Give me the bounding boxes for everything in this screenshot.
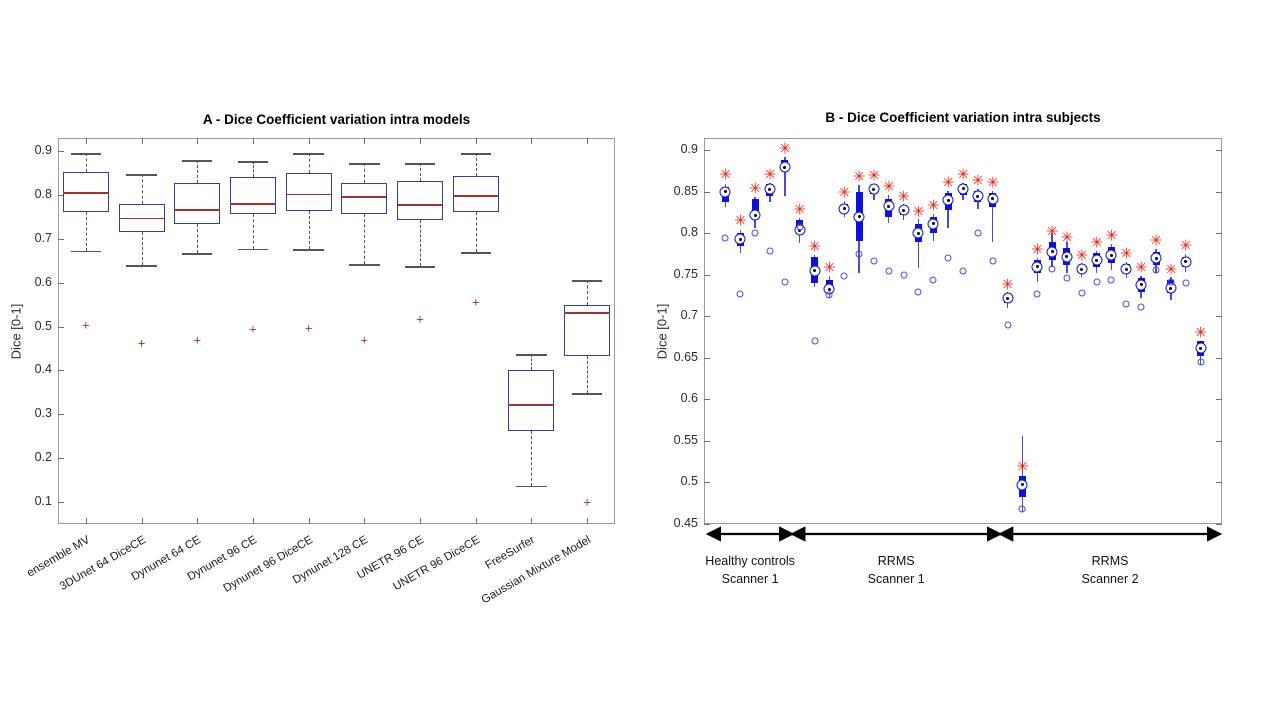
x-axis-tick [309,518,310,524]
y-axis-tick-label: 0.7 [10,231,52,245]
group-label-line1: RRMS [786,552,1006,570]
subject-min-marker [1034,291,1041,298]
subject-max-marker: ✳ [764,167,777,182]
subject-min-marker [960,267,967,274]
subject-min-marker [1049,266,1056,273]
y-axis-tick-label: 0.3 [10,406,52,420]
x-axis-tick [476,518,477,524]
subject-max-marker: ✳ [1150,234,1163,249]
subject-max-marker: ✳ [1031,242,1044,257]
subject-min-marker [737,291,744,298]
subject-median-marker [943,195,954,206]
subject-median-marker [1136,279,1147,290]
subject-min-marker [1182,280,1189,287]
subject-median-marker [1061,251,1072,262]
box-outlier-marker: + [472,295,480,308]
y-axis-tick-right [1216,275,1222,276]
subject-median-marker [720,186,731,197]
y-axis-tick [58,327,64,328]
x-axis-category-label: FreeSurfer [324,534,538,664]
x-axis-tick [364,138,365,144]
x-axis-tick [531,518,532,524]
box-median-line [63,192,109,194]
subject-min-marker [1063,275,1070,282]
x-axis-tick [587,518,588,524]
subject-median-marker [958,183,969,194]
subject-min-marker [1108,276,1115,283]
subject-median-marker [1195,343,1206,354]
box-whisker-upper [364,163,365,182]
y-axis-tick-label: 0.6 [652,391,698,405]
y-axis-tick-label: 0.75 [652,267,698,281]
box-whisker-cap-lower [71,251,101,253]
subject-min-marker [1123,301,1130,308]
subject-max-marker: ✳ [793,202,806,217]
box-whisker-upper [309,153,310,173]
box-outlier-marker: + [583,496,591,509]
subject-max-marker: ✳ [1179,239,1192,254]
x-axis-tick [86,518,87,524]
subject-median-marker [1106,250,1117,261]
box-median-line [564,312,610,314]
y-axis-tick-label: 0.8 [10,187,52,201]
subject-median-marker [898,205,909,216]
subject-median-marker [809,265,820,276]
subject-max-marker: ✳ [882,180,895,195]
subject-min-marker [885,267,892,274]
subject-max-marker: ✳ [779,142,792,157]
group-label-line1: RRMS [1000,552,1220,570]
box-whisker-upper [142,174,143,203]
x-axis-tick [142,518,143,524]
y-axis-tick-label: 0.8 [652,225,698,239]
box-median-line [508,404,554,406]
subject-max-marker: ✳ [1105,229,1118,244]
box-whisker-lower [86,212,87,251]
box-whisker-cap-upper [71,153,101,155]
box-iqr [286,173,332,211]
box-whisker-cap-lower [182,253,212,255]
subject-max-marker: ✳ [1061,231,1074,246]
y-axis-tick-label: 0.4 [10,362,52,376]
subject-median-marker [987,193,998,204]
subject-median-marker [1151,253,1162,264]
subject-median-marker [883,201,894,212]
subject-max-marker: ✳ [1194,325,1207,340]
subject-median-marker [913,228,924,239]
subject-max-marker: ✳ [942,176,955,191]
subject-max-marker: ✳ [838,186,851,201]
box-whisker-cap-lower [238,249,268,251]
subject-median-marker [764,184,775,195]
box-whisker-cap-upper [126,174,156,176]
y-axis-tick-right [1216,233,1222,234]
y-axis-tick-label: 0.5 [10,319,52,333]
subject-min-marker [856,251,863,258]
box-median-line [397,204,443,206]
subject-min-marker [766,247,773,254]
subject-median-marker [868,184,879,195]
subject-max-marker: ✳ [927,198,940,213]
box-median-line [174,209,220,211]
y-axis-tick [704,441,710,442]
y-axis-tick-label: 0.7 [652,308,698,322]
y-axis-tick [58,370,64,371]
subject-median-marker [1091,255,1102,266]
box-whisker-cap-lower [293,249,323,251]
box-whisker-upper [86,153,87,172]
y-axis-tick [704,482,710,483]
y-axis-tick-right [1216,316,1222,317]
subject-median-marker [750,210,761,221]
subject-max-marker: ✳ [1075,248,1088,263]
box-whisker-cap-upper [238,161,268,163]
panel-a: A - Dice Coefficient variation intra mod… [0,0,640,720]
subject-median-marker [1121,264,1132,275]
subject-min-marker [841,272,848,279]
box-iqr [341,183,387,214]
subject-min-marker [1078,290,1085,297]
box-whisker-cap-upper [293,153,323,155]
subject-min-marker [915,289,922,296]
box-whisker-upper [420,163,421,181]
box-whisker-upper [253,161,254,177]
x-axis-tick [364,518,365,524]
x-axis-tick [309,138,310,144]
box-whisker-lower [197,224,198,254]
subject-min-marker [781,278,788,285]
subject-max-marker: ✳ [1001,277,1014,292]
box-median-line [286,194,332,196]
y-axis-tick [704,192,710,193]
y-axis-tick-label: 0.1 [10,494,52,508]
panel-b-group-arrows [640,524,1280,552]
box-whisker-cap-lower [126,265,156,267]
subject-min-marker [945,254,952,261]
y-axis-tick-label: 0.65 [652,350,698,364]
box-whisker-cap-upper [516,354,546,356]
box-whisker-lower [142,232,143,265]
x-axis-tick [587,138,588,144]
y-axis-tick-label: 0.2 [10,450,52,464]
y-axis-tick-right [1216,150,1222,151]
box-iqr [230,177,276,214]
y-axis-tick [704,233,710,234]
subject-max-marker: ✳ [1046,225,1059,240]
box-whisker-lower [309,211,310,249]
y-axis-tick-label: 0.5 [652,474,698,488]
subject-min-marker [1004,321,1011,328]
x-axis-tick [86,138,87,144]
subject-min-marker [1019,506,1026,513]
subject-max-marker: ✳ [808,240,821,255]
box-outlier-marker: + [82,319,90,332]
subject-median-marker [1002,293,1013,304]
subject-min-marker [722,234,729,241]
x-axis-category-label: Gaussian Mixture Model [379,534,593,664]
box-whisker-cap-upper [182,160,212,162]
x-axis-tick [142,138,143,144]
box-outlier-marker: + [249,322,257,335]
y-axis-tick [58,458,64,459]
box-whisker-cap-upper [572,280,602,282]
group-label: RRMSScanner 1 [786,552,1006,588]
box-median-line [230,203,276,205]
subject-min-marker [930,276,937,283]
y-axis-tick [704,150,710,151]
y-axis-tick-label: 0.85 [652,184,698,198]
box-whisker-cap-lower [405,266,435,268]
subject-min-marker [1093,278,1100,285]
y-axis-tick-right [1216,482,1222,483]
subject-min-marker [1153,266,1160,273]
y-axis-tick [58,502,64,503]
subject-max-marker: ✳ [719,167,732,182]
subject-median-marker [1076,264,1087,275]
subject-max-marker: ✳ [1090,236,1103,251]
subject-min-marker [989,257,996,264]
subject-max-marker: ✳ [868,168,881,183]
subject-max-marker: ✳ [986,176,999,191]
subject-median-marker [1032,261,1043,272]
subject-min-marker [1167,278,1174,285]
group-label-line2: Scanner 2 [1000,570,1220,588]
y-axis-tick-label: 0.9 [10,143,52,157]
box-outlier-marker: + [416,312,424,325]
x-axis-tick [253,518,254,524]
y-axis-tick-right [1216,441,1222,442]
box-outlier-marker: + [305,321,313,334]
subject-median-marker [1180,256,1191,267]
subject-median-marker [1047,246,1058,257]
box-median-line [341,196,387,198]
subject-median-marker [1017,479,1028,490]
subject-min-marker [1138,303,1145,310]
subject-median-marker [854,211,865,222]
x-axis-tick [531,138,532,144]
box-whisker-cap-upper [349,163,379,165]
x-axis-tick [197,138,198,144]
x-axis-tick [197,518,198,524]
box-outlier-marker: + [138,336,146,349]
box-whisker-cap-lower [516,486,546,488]
subject-min-marker [900,271,907,278]
box-whisker-lower [587,356,588,394]
x-axis-tick [420,138,421,144]
box-whisker-upper [531,354,532,370]
group-label: RRMSScanner 2 [1000,552,1220,588]
figure-root: A - Dice Coefficient variation intra mod… [0,0,1280,720]
box-whisker-cap-lower [349,264,379,266]
box-whisker-lower [364,214,365,264]
y-axis-tick-label: 0.6 [10,275,52,289]
subject-max-marker: ✳ [897,189,910,204]
subject-min-marker [974,230,981,237]
subject-max-marker: ✳ [1135,260,1148,275]
subject-min-marker [811,337,818,344]
y-axis-tick [704,316,710,317]
subject-max-marker: ✳ [734,214,747,229]
subject-max-marker: ✳ [1165,262,1178,277]
box-whisker-cap-lower [572,393,602,395]
subject-min-marker [752,230,759,237]
subject-max-marker: ✳ [1016,460,1029,475]
subject-max-marker: ✳ [823,260,836,275]
box-outlier-marker: + [193,333,201,346]
box-median-line [453,195,499,197]
y-axis-tick [704,358,710,359]
subject-median-marker [735,234,746,245]
box-whisker-cap-upper [461,153,491,155]
box-whisker-lower [253,214,254,248]
subject-max-marker: ✳ [957,167,970,182]
subject-min-marker [1197,359,1204,366]
group-label-line2: Scanner 1 [786,570,1006,588]
box-whisker-cap-lower [461,252,491,254]
x-axis-tick [420,518,421,524]
box-whisker-lower [531,431,532,486]
subject-max-marker: ✳ [853,170,866,185]
y-axis-tick-right [1216,399,1222,400]
subject-min-marker [870,257,877,264]
panel-b: B - Dice Coefficient variation intra sub… [640,0,1280,720]
subject-median-marker [839,203,850,214]
subject-max-marker: ✳ [972,173,985,188]
y-axis-tick-label: 0.55 [652,433,698,447]
panel-b-title: B - Dice Coefficient variation intra sub… [704,110,1222,125]
box-iqr [397,181,443,220]
subject-max-marker: ✳ [749,182,762,197]
x-axis-category-label: UNETR 96 DiceCE [268,534,482,664]
x-axis-tick [476,138,477,144]
y-axis-tick-right [1216,192,1222,193]
box-iqr [508,370,554,431]
subject-max-marker: ✳ [912,204,925,219]
y-axis-tick [58,283,64,284]
box-whisker-upper [587,280,588,305]
y-axis-tick [58,414,64,415]
box-iqr [174,183,220,223]
subject-min-marker [826,291,833,298]
box-outlier-marker: + [361,333,369,346]
y-axis-tick [58,151,64,152]
panel-a-title: A - Dice Coefficient variation intra mod… [58,112,615,127]
box-median-line [119,218,165,220]
subject-min-marker [796,223,803,230]
subject-median-marker [972,191,983,202]
box-iqr [453,176,499,212]
y-axis-tick [58,239,64,240]
subject-median-marker [928,218,939,229]
x-axis-tick [253,138,254,144]
y-axis-tick [704,275,710,276]
subject-median-marker [779,162,790,173]
subject-max-marker: ✳ [1120,246,1133,261]
y-axis-tick-right [1216,358,1222,359]
box-whisker-upper [476,153,477,176]
box-whisker-lower [476,212,477,252]
box-whisker-cap-upper [405,163,435,165]
y-axis-tick-label: 0.9 [652,142,698,156]
box-whisker-upper [197,160,198,183]
box-whisker-lower [420,220,421,266]
y-axis-tick [704,399,710,400]
